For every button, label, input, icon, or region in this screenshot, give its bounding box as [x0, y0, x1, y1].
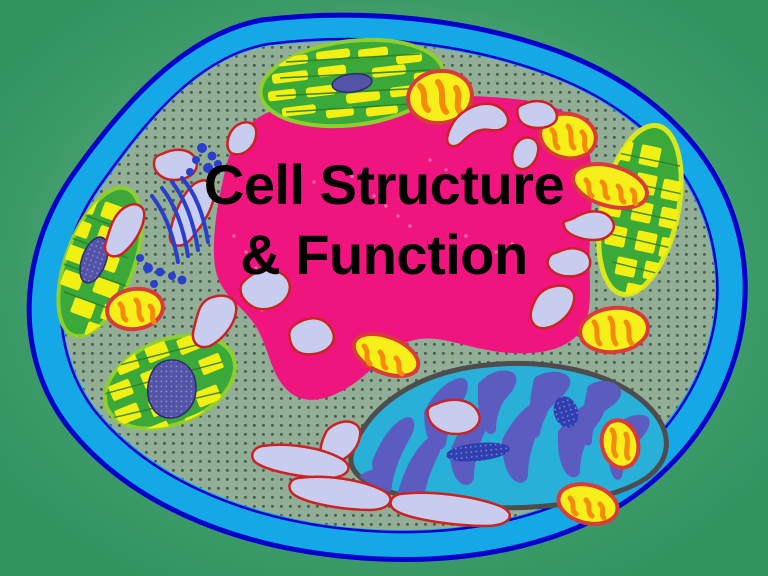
plant-cell-diagram — [0, 0, 768, 576]
slide-canvas: Cell Structure & Function — [0, 0, 768, 576]
starch-grain — [148, 360, 196, 418]
